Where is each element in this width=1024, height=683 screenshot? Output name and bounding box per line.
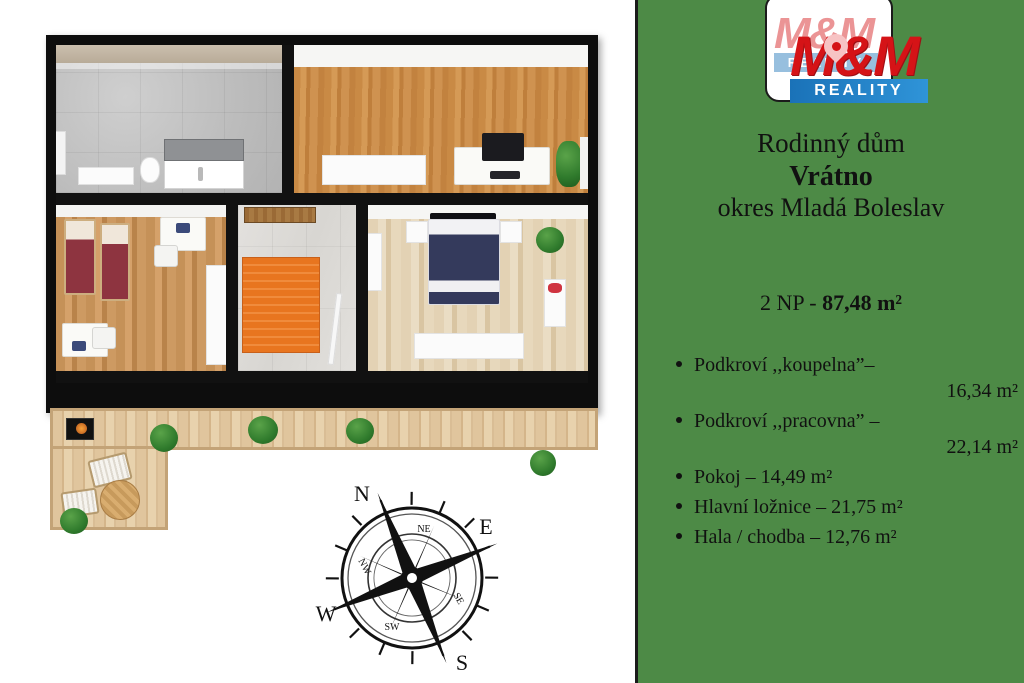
room-label: Pokoj – 14,49 m² — [694, 466, 832, 488]
compass-label-nw: NW — [355, 557, 373, 577]
chair-1 — [154, 245, 178, 267]
room-area: 22,14 m² — [694, 434, 1024, 460]
bed-single-1 — [64, 219, 96, 295]
room-label: Hala / chodba – 12,76 m² — [694, 526, 897, 548]
room-label: Podkroví ,,koupelna”– — [694, 354, 875, 376]
sink-counter — [78, 167, 134, 185]
monitor — [482, 133, 524, 161]
nightstand-right — [500, 221, 522, 243]
plant-icon — [150, 424, 178, 452]
logo-mark-text: M&M — [790, 28, 928, 84]
room-bathroom — [56, 45, 288, 193]
room-hall — [238, 205, 356, 371]
plant-icon — [536, 227, 564, 253]
floor-area-line: 2 NP - 87,48 m² — [638, 290, 1024, 316]
chair-2 — [92, 327, 116, 349]
compass-label-e: E — [479, 514, 492, 539]
sideboard — [322, 155, 426, 185]
floorplan-pane: N E S W NE SE SW NW — [0, 0, 636, 683]
compass-label-w: W — [316, 601, 337, 626]
staircase — [242, 257, 320, 353]
list-item: Hala / chodba – 12,76 m² — [672, 524, 1024, 550]
toilet — [140, 157, 160, 183]
room-pokoj — [56, 205, 226, 371]
floor-area-value: 87,48 m² — [822, 290, 902, 315]
terrace-table — [100, 480, 140, 520]
terrace-long — [50, 408, 598, 450]
logo-area: M&M REALITY M&M REALITY — [638, 0, 1024, 120]
compass-label-sw: SW — [385, 622, 401, 633]
title-block: Rodinný dům Vrátno okres Mladá Boleslav — [638, 128, 1024, 224]
room-label: Hlavní ložnice – 21,75 m² — [694, 496, 903, 518]
compass-label-n: N — [354, 481, 370, 506]
district-name: okres Mladá Boleslav — [638, 193, 1024, 224]
logo-primary: M&M REALITY — [790, 28, 928, 103]
compass-rose-icon: N E S W NE SE SW NW — [312, 478, 512, 678]
bullet-icon — [676, 417, 682, 423]
compass-label-ne: NE — [417, 524, 430, 535]
info-panel: M&M REALITY M&M REALITY Rodinný dům Vrát… — [638, 0, 1024, 683]
list-item: Pokoj – 14,49 m² — [672, 464, 1024, 490]
plant-icon — [346, 418, 374, 444]
room-master-bedroom — [368, 205, 588, 371]
nightstand-left — [406, 221, 428, 243]
plant-icon — [530, 450, 556, 476]
bench — [414, 333, 524, 359]
plant-icon — [556, 141, 582, 187]
village-name: Vrátno — [638, 160, 1024, 193]
compass-label-s: S — [456, 650, 468, 675]
list-item: Podkroví ,,pracovna” – 22,14 m² — [672, 408, 1024, 460]
wardrobe-2 — [368, 233, 382, 291]
bullet-icon — [676, 473, 682, 479]
room-area: 16,34 m² — [694, 378, 1024, 404]
bed-single-2 — [100, 223, 130, 301]
room-label: Podkroví ,,pracovna” – — [694, 410, 880, 432]
wardrobe — [206, 265, 226, 365]
bullet-icon — [676, 503, 682, 509]
listing-card: N E S W NE SE SW NW M&M REALITY — [0, 0, 1024, 683]
floorplan-image — [38, 30, 608, 430]
plant-icon — [60, 508, 88, 534]
handrail — [328, 293, 343, 365]
bullet-icon — [676, 533, 682, 539]
room-study — [294, 45, 588, 193]
bed-double — [428, 219, 500, 305]
plant-icon — [248, 416, 278, 444]
property-type: Rodinný dům — [638, 128, 1024, 160]
map-pin-dot-icon — [832, 42, 841, 51]
floor-label: 2 NP - — [760, 290, 822, 315]
hall-console — [244, 207, 316, 223]
bullet-icon — [676, 361, 682, 367]
list-item: Podkroví ,,koupelna”– 16,34 m² — [672, 352, 1024, 404]
building-outline — [46, 35, 598, 413]
room-list: Podkroví ,,koupelna”– 16,34 m² Podkroví … — [672, 352, 1024, 554]
list-item: Hlavní ložnice – 21,75 m² — [672, 494, 1024, 520]
